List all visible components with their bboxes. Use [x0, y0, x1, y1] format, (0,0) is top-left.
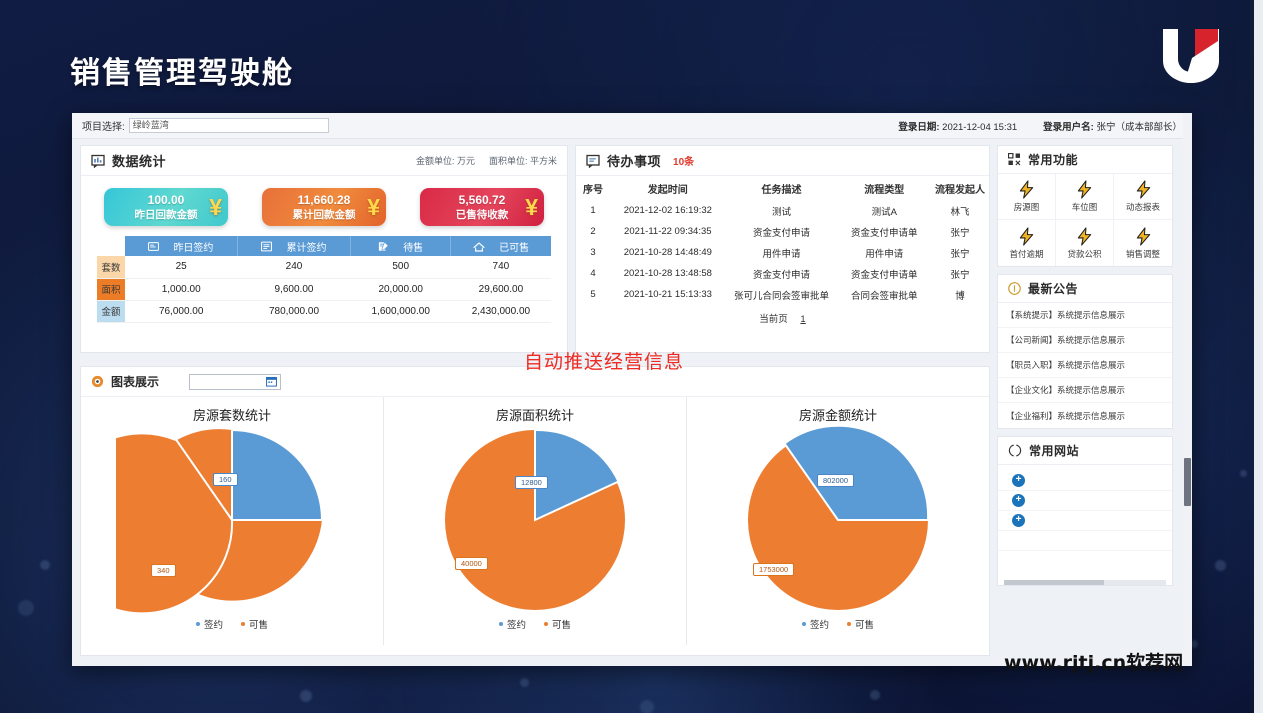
pie-chart-1 [81, 426, 383, 614]
bokeh-dot [40, 560, 50, 570]
stats-table-row: 金额 76,000.00 780,000.00 1,600,000.00 2,4… [97, 300, 551, 322]
stats-cell: 25 [125, 256, 237, 278]
todo-pagination: 当前页 1 [576, 305, 989, 333]
legend-dot-blue [802, 622, 806, 626]
chart-panel-icon [91, 154, 105, 168]
todo-cell-type: 用件申请 [837, 242, 931, 263]
app-vertical-scrollbar[interactable] [1183, 113, 1192, 666]
chart-fangyuan-jine: 房源金额统计 802000 1753000 签约 可售 [687, 397, 989, 645]
todo-cell-desc: 用件申请 [726, 242, 838, 263]
todo-cell-index: 3 [576, 242, 610, 263]
pie-chart-3 [687, 426, 989, 614]
bokeh-dot [1240, 470, 1247, 477]
stats-col-label: 累计签约 [286, 239, 326, 254]
table-row[interactable]: 1 2021-12-02 16:19:32 测试 测试A 林飞 [576, 200, 989, 221]
todo-cell-time: 2021-10-28 13:48:58 [610, 263, 726, 284]
stats-cell: 76,000.00 [125, 300, 237, 322]
func-item-label: 销售调整 [1126, 248, 1160, 260]
legend-item-keshou[interactable]: 可售 [544, 617, 571, 631]
list-item[interactable]: 【企业文化】系统提示信息展示 [998, 378, 1172, 403]
announce-panel-header: 最新公告 [998, 275, 1172, 303]
legend-dot-blue [196, 622, 200, 626]
app-window: 项目选择: 绿岭蓝湾 登录日期: 2021-12-04 15:31 登录用户名:… [72, 113, 1192, 666]
stats-col-label: 已可售 [499, 239, 529, 254]
info-circle-icon [1008, 282, 1021, 295]
announce-panel: 最新公告 【系统提示】系统提示信息展示 【公司新闻】系统提示信息展示 【职员入职… [997, 274, 1173, 429]
stats-cell: 20,000.00 [351, 278, 451, 300]
login-user-label: 登录用户名: [1043, 122, 1094, 133]
table-row[interactable]: 2 2021-11-22 09:34:35 资金支付申请 资金支付申请单 张宁 [576, 221, 989, 242]
pie-slice-label-keshou: 340 [151, 564, 176, 577]
todo-panel-title: 待办事项 [607, 151, 661, 170]
func-panel-title: 常用功能 [1028, 151, 1078, 168]
todo-cell-desc: 资金支付申请 [726, 221, 838, 242]
u-logo [1159, 25, 1223, 83]
bolt-icon [1134, 227, 1153, 246]
bolt-icon [1134, 180, 1153, 199]
bolt-icon [1017, 227, 1036, 246]
list-item[interactable]: + [998, 471, 1172, 491]
list-item[interactable]: 【企业福利】系统提示信息展示 [998, 403, 1172, 428]
chart-title: 房源面积统计 [384, 397, 686, 424]
pagination-label: 当前页 [759, 314, 788, 325]
chart-fangyuan-mianji: 房源面积统计 12800 40000 签约 可售 [384, 397, 687, 645]
list-item[interactable]: + [998, 491, 1172, 511]
todo-cell-initiator: 林飞 [931, 200, 989, 221]
func-item-shoufuyuqi[interactable]: 首付逾期 [998, 220, 1056, 266]
todo-table: 序号 发起时间 任务描述 流程类型 流程发起人 1 2021-12-02 16:… [576, 176, 989, 305]
todo-panel: 待办事项 10条 序号 发起时间 任务描述 流程类型 流程发起人 1 2021-… [575, 145, 990, 353]
func-item-label: 车位图 [1072, 201, 1098, 213]
legend-item-qianyue[interactable]: 签约 [196, 617, 223, 631]
login-date: 登录日期: 2021-12-04 15:31 [898, 119, 1017, 133]
announce-list: 【系统提示】系统提示信息展示 【公司新闻】系统提示信息展示 【职员入职】系统提示… [998, 303, 1172, 428]
func-panel: 常用功能 房源图 车位图 动态报表 [997, 145, 1173, 267]
pie-slice-label-qianyue: 160 [213, 473, 238, 486]
chart-title: 房源套数统计 [81, 397, 383, 424]
unit-amount: 金额单位: 万元 [416, 154, 475, 167]
chart-fangyuan-taoshu: 房源套数统计 160 340 签约 可售 [81, 397, 384, 645]
stats-cell: 500 [351, 256, 451, 278]
legend-dot-blue [499, 622, 503, 626]
stats-row-label: 金额 [97, 300, 125, 322]
unit-area: 面积单位: 平方米 [489, 154, 557, 167]
kpi-value: 11,660.28 [298, 193, 351, 208]
stats-row-label: 面积 [97, 278, 125, 300]
stats-cell: 9,600.00 [237, 278, 350, 300]
todo-cell-type: 测试A [837, 200, 931, 221]
legend-item-qianyue[interactable]: 签约 [802, 617, 829, 631]
project-select-input[interactable]: 绿岭蓝湾 [129, 118, 329, 133]
kpi-card-receivable[interactable]: 5,560.72 已售待收款 ¥ [420, 188, 544, 226]
sites-list: + + + [998, 465, 1172, 575]
todo-cell-type: 合同会签审批单 [837, 284, 931, 305]
login-user-value: 张宁（成本部部长） [1096, 122, 1182, 133]
stats-panel: 数据统计 金额单位: 万元 面积单位: 平方米 100.00 昨日回款金额 ¥ … [80, 145, 568, 353]
bokeh-dot [640, 700, 654, 713]
annotation-text: 自动推送经营信息 [524, 347, 684, 374]
todo-col-type: 流程类型 [837, 176, 931, 200]
table-row[interactable]: 4 2021-10-28 13:48:58 资金支付申请 资金支付申请单 张宁 [576, 263, 989, 284]
todo-panel-header: 待办事项 10条 [576, 146, 989, 176]
table-row[interactable]: 3 2021-10-28 14:48:49 用件申请 用件申请 张宁 [576, 242, 989, 263]
link-circle-icon [1008, 444, 1022, 457]
func-item-daikuangongji[interactable]: 贷款公积 [1056, 220, 1114, 266]
stats-cell: 29,600.00 [451, 278, 551, 300]
card-icon [148, 241, 159, 252]
todo-cell-initiator: 博 [931, 284, 989, 305]
project-select-label: 项目选择: [82, 118, 125, 133]
legend-dot-orange [847, 622, 851, 626]
todo-cell-desc: 资金支付申请 [726, 263, 838, 284]
stats-col-pending-sale[interactable]: 待售 [351, 236, 451, 256]
bolt-icon [1075, 227, 1094, 246]
charts-panel: 图表展示 房源套数统计 [80, 366, 990, 656]
todo-cell-time: 2021-10-21 15:13:33 [610, 284, 726, 305]
stats-cell: 1,600,000.00 [351, 300, 451, 322]
todo-panel-icon [586, 154, 600, 168]
pagination-page-1[interactable]: 1 [800, 314, 805, 325]
list-item[interactable]: 【系统提示】系统提示信息展示 [998, 303, 1172, 328]
home-icon [473, 241, 485, 252]
stats-table: 昨日签约 累计签约 待售 [97, 236, 551, 323]
list-item[interactable]: 【公司新闻】系统提示信息展示 [998, 328, 1172, 353]
todo-cell-type: 资金支付申请单 [837, 221, 931, 242]
todo-cell-time: 2021-10-28 14:48:49 [610, 242, 726, 263]
table-row[interactable]: 5 2021-10-21 15:13:33 张可儿合同会签审批单 合同会签审批单… [576, 284, 989, 305]
edit-doc-icon [378, 241, 389, 252]
watermark: www.rjtj.cn软荐网 [1004, 648, 1183, 675]
chart-legend: 签约 可售 [81, 617, 383, 631]
yen-icon: ¥ [209, 192, 222, 222]
chart-legend: 签约 可售 [687, 617, 989, 631]
todo-header-row: 序号 发起时间 任务描述 流程类型 流程发起人 [576, 176, 989, 200]
list-item[interactable]: + [998, 511, 1172, 531]
sites-panel-title: 常用网站 [1029, 442, 1079, 459]
stats-panel-header: 数据统计 金额单位: 万元 面积单位: 平方米 [81, 146, 567, 176]
stats-table-row: 套数 25 240 500 740 [97, 256, 551, 278]
kpi-card-total-payment[interactable]: 11,660.28 累计回款金额 ¥ [262, 188, 386, 226]
chart-title: 房源金额统计 [687, 397, 989, 424]
kpi-row: 100.00 昨日回款金额 ¥ 11,660.28 累计回款金额 ¥ 5,560… [81, 176, 567, 234]
todo-col-initiator: 流程发起人 [931, 176, 989, 200]
kpi-label: 已售待收款 [456, 208, 509, 222]
todo-cell-time: 2021-11-22 09:34:35 [610, 221, 726, 242]
kpi-label: 累计回款金额 [293, 208, 356, 222]
legend-label: 签约 [204, 617, 223, 631]
stats-col-label: 昨日签约 [173, 239, 213, 254]
app-topbar: 项目选择: 绿岭蓝湾 登录日期: 2021-12-04 15:31 登录用户名:… [72, 113, 1192, 139]
chart-date-input[interactable] [189, 374, 281, 390]
page-scrollbar[interactable] [1254, 0, 1263, 713]
stats-cell: 740 [451, 256, 551, 278]
todo-cell-initiator: 张宁 [931, 242, 989, 263]
bokeh-dot [870, 690, 880, 700]
bolt-icon [1017, 180, 1036, 199]
stats-col-yesterday-sign[interactable]: 昨日签约 [125, 236, 237, 256]
page-title: 销售管理驾驶舱 [70, 48, 294, 92]
todo-cell-desc: 测试 [726, 200, 838, 221]
pie-slice-label-keshou: 1753000 [753, 563, 794, 576]
list-item[interactable] [998, 531, 1172, 551]
func-item-label: 首付逾期 [1009, 248, 1043, 260]
chart-legend: 签约 可售 [384, 617, 686, 631]
list-item[interactable]: 【职员入职】系统提示信息展示 [998, 353, 1172, 378]
legend-dot-orange [241, 622, 245, 626]
func-item-label: 房源图 [1014, 201, 1040, 213]
func-item-dongtaibaobiao[interactable]: 动态报表 [1114, 174, 1172, 220]
list-icon [261, 241, 272, 252]
plus-badge-icon[interactable]: + [1012, 474, 1025, 487]
kpi-value: 100.00 [148, 193, 185, 208]
right-column: 常用功能 房源图 车位图 动态报表 [997, 145, 1173, 666]
stats-panel-title: 数据统计 [112, 151, 166, 170]
func-item-cheweitu[interactable]: 车位图 [1056, 174, 1114, 220]
stats-units: 金额单位: 万元 面积单位: 平方米 [416, 154, 557, 167]
bokeh-dot [18, 600, 34, 616]
pie-slice-label-qianyue: 802000 [817, 474, 854, 487]
plus-badge-icon[interactable]: + [1012, 514, 1025, 527]
stats-cell: 780,000.00 [237, 300, 350, 322]
todo-cell-time: 2021-12-02 16:19:32 [610, 200, 726, 221]
stats-table-row: 面积 1,000.00 9,600.00 20,000.00 29,600.00 [97, 278, 551, 300]
legend-label: 可售 [552, 617, 571, 631]
todo-col-desc: 任务描述 [726, 176, 838, 200]
calendar-icon[interactable] [266, 376, 277, 391]
func-panel-header: 常用功能 [998, 146, 1172, 174]
login-date-label: 登录日期: [898, 122, 939, 133]
yen-icon: ¥ [367, 192, 380, 222]
func-item-xiaoshoutiaozheng[interactable]: 销售调整 [1114, 220, 1172, 266]
func-item-label: 贷款公积 [1067, 248, 1101, 260]
legend-dot-orange [544, 622, 548, 626]
todo-cell-index: 4 [576, 263, 610, 284]
yen-icon: ¥ [525, 192, 538, 222]
stats-table-header-row: 昨日签约 累计签约 待售 [97, 236, 551, 256]
legend-item-keshou[interactable]: 可售 [241, 617, 268, 631]
legend-label: 签约 [507, 617, 526, 631]
plus-badge-icon[interactable]: + [1012, 494, 1025, 507]
stats-col-total-sign[interactable]: 累计签约 [237, 236, 350, 256]
legend-label: 可售 [855, 617, 874, 631]
todo-cell-desc: 张可儿合同会签审批单 [726, 284, 838, 305]
todo-cell-initiator: 张宁 [931, 221, 989, 242]
grid-apps-icon [1008, 153, 1021, 166]
scrollbar-thumb[interactable] [1004, 580, 1104, 585]
bolt-icon [1075, 180, 1094, 199]
stats-row-label: 套数 [97, 256, 125, 278]
stats-cell: 240 [237, 256, 350, 278]
kpi-card-yesterday-payment[interactable]: 100.00 昨日回款金额 ¥ [104, 188, 228, 226]
stats-cell: 1,000.00 [125, 278, 237, 300]
horizontal-scrollbar[interactable] [1004, 580, 1166, 585]
bokeh-dot [520, 678, 529, 687]
sites-panel-header: 常用网站 [998, 437, 1172, 465]
login-date-value: 2021-12-04 15:31 [942, 122, 1017, 133]
charts-panel-title: 图表展示 [111, 373, 159, 390]
todo-cell-index: 2 [576, 221, 610, 242]
target-icon [91, 375, 104, 388]
scrollbar-thumb[interactable] [1184, 458, 1191, 506]
stats-table-corner [97, 236, 125, 256]
login-user: 登录用户名: 张宁（成本部部长） [1043, 119, 1182, 133]
sites-panel: 常用网站 + + + [997, 436, 1173, 586]
todo-col-time: 发起时间 [610, 176, 726, 200]
pie-slice-label-keshou: 40000 [455, 557, 488, 570]
stats-col-available[interactable]: 已可售 [451, 236, 551, 256]
pie-slice-label-qianyue: 12800 [515, 476, 548, 489]
todo-cell-index: 5 [576, 284, 610, 305]
stats-cell: 2,430,000.00 [451, 300, 551, 322]
announce-panel-title: 最新公告 [1028, 280, 1078, 297]
todo-count-badge: 10条 [673, 153, 694, 168]
todo-cell-index: 1 [576, 200, 610, 221]
bokeh-dot [1215, 560, 1226, 571]
func-item-fangyuantu[interactable]: 房源图 [998, 174, 1056, 220]
list-item[interactable] [998, 551, 1172, 571]
func-item-label: 动态报表 [1126, 201, 1160, 213]
legend-label: 签约 [810, 617, 829, 631]
legend-label: 可售 [249, 617, 268, 631]
legend-item-qianyue[interactable]: 签约 [499, 617, 526, 631]
bokeh-dot [300, 690, 312, 702]
todo-col-index: 序号 [576, 176, 610, 200]
legend-item-keshou[interactable]: 可售 [847, 617, 874, 631]
kpi-value: 5,560.72 [459, 193, 506, 208]
todo-cell-initiator: 张宁 [931, 263, 989, 284]
func-grid: 房源图 车位图 动态报表 首付逾期 [998, 174, 1172, 266]
kpi-label: 昨日回款金额 [135, 208, 198, 222]
pie-chart-2 [384, 426, 686, 614]
charts-row: 房源套数统计 160 340 签约 可售 [81, 397, 989, 645]
stats-col-label: 待售 [403, 239, 423, 254]
todo-cell-type: 资金支付申请单 [837, 263, 931, 284]
